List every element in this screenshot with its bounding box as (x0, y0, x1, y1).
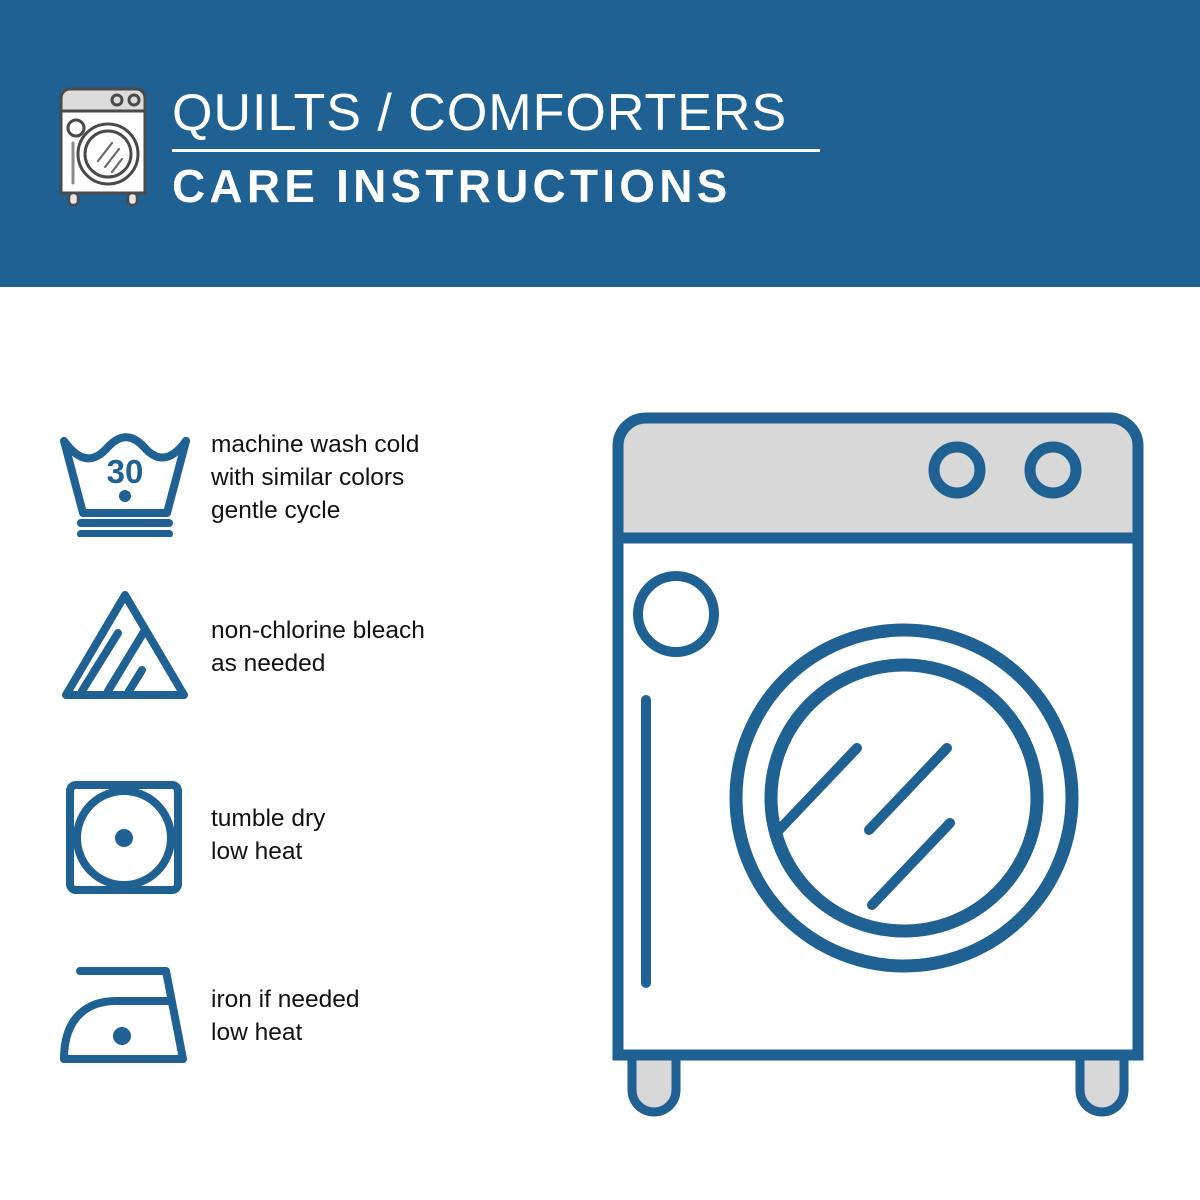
care-text-bleach: non-chlorine bleach as needed (211, 585, 425, 680)
front-load-washing-machine-illustration (596, 400, 1166, 1130)
care-row-bleach: non-chlorine bleach as needed (56, 585, 556, 705)
header-title-block: QUILTS / COMFORTERS CARE INSTRUCTIONS (172, 84, 820, 211)
care-text-tumble-dry: tumble dry low heat (211, 777, 325, 868)
page-title: QUILTS / COMFORTERS (172, 84, 820, 142)
care-row-iron: iron if needed low heat (56, 955, 556, 1075)
leg-left (632, 1052, 676, 1112)
care-text-machine-wash: machine wash cold with similar colors ge… (211, 417, 419, 527)
iron-low-heat-icon (56, 955, 196, 1075)
header-banner: QUILTS / COMFORTERS CARE INSTRUCTIONS (0, 0, 1200, 287)
washing-machine-logo-icon (52, 83, 154, 207)
wash-temperature-label: 30 (107, 453, 144, 490)
bleach-triangle-non-chlorine-icon (56, 585, 196, 705)
control-panel (618, 418, 1138, 538)
leg-right (1080, 1052, 1124, 1112)
title-divider-rule (172, 149, 820, 152)
tumble-dry-low-heat-icon (56, 777, 196, 897)
care-row-machine-wash: 30 machine wash cold with similar colors… (56, 417, 556, 537)
care-row-tumble-dry: tumble dry low heat (56, 777, 556, 897)
care-text-iron: iron if needed low heat (211, 955, 359, 1049)
page-subtitle: CARE INSTRUCTIONS (172, 161, 820, 211)
care-instructions-list: 30 machine wash cold with similar colors… (0, 287, 560, 1200)
wash-tub-30-gentle-icon: 30 (56, 417, 196, 537)
